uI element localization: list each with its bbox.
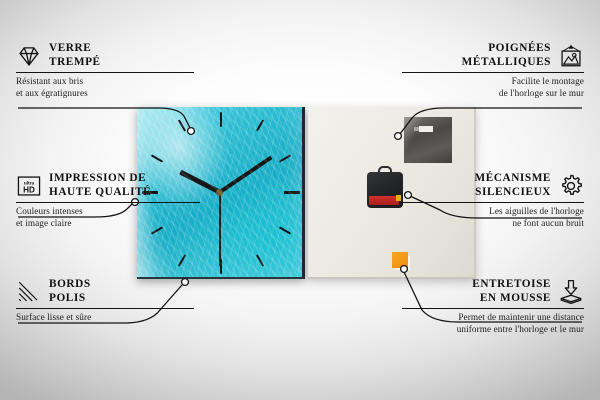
callout-rule	[16, 202, 200, 203]
foam-spacer-part	[392, 252, 408, 268]
clock-hand-cap	[216, 189, 223, 196]
callout-rule	[402, 72, 584, 73]
diamond-icon	[16, 43, 42, 69]
callout-title: ENTRETOISE EN MOUSSE	[472, 278, 551, 305]
callout-rule	[402, 202, 584, 203]
callout-mecanisme-silencieux: MÉCANISME SILENCIEUX Les aiguilles de l'…	[390, 172, 584, 229]
picture-hanger-icon	[558, 43, 584, 69]
callout-bords-polis: BORDS POLIS Surface lisse et sûre	[16, 278, 206, 324]
callout-title: POIGNÉES MÉTALLIQUES	[462, 42, 551, 69]
metal-hanger-plate	[404, 117, 452, 163]
callout-title: BORDS POLIS	[49, 278, 91, 305]
callout-title: IMPRESSION DE HAUTE QUALITÉ	[49, 172, 151, 199]
callout-subtitle: Permet de maintenir une distance uniform…	[390, 312, 584, 335]
callout-poignees-metalliques: POIGNÉES MÉTALLIQUES Facilite le montage…	[390, 42, 584, 99]
clock-minute-hand	[218, 156, 272, 194]
callout-subtitle: Les aiguilles de l'horloge ne font aucun…	[390, 206, 584, 229]
hanger-slot	[419, 126, 433, 132]
svg-text:HD: HD	[23, 185, 35, 194]
callout-verre-trempe: VERRE TREMPÉ Résistant aux bris et aux é…	[16, 42, 206, 99]
callout-subtitle: Résistant aux bris et aux égratignures	[16, 76, 206, 99]
callout-title: MÉCANISME SILENCIEUX	[475, 172, 552, 199]
clock-second-hand	[219, 192, 221, 266]
ultra-hd-icon: ultra HD	[16, 173, 42, 199]
callout-entretoise-en-mousse: ENTRETOISE EN MOUSSE Permet de maintenir…	[390, 278, 584, 335]
callout-impression-haute-qualite: ultra HD IMPRESSION DE HAUTE QUALITÉ Cou…	[16, 172, 212, 229]
gear-icon	[558, 173, 584, 199]
callout-rule	[16, 72, 194, 73]
callout-rule	[402, 308, 584, 309]
callout-rule	[16, 308, 194, 309]
callout-subtitle: Surface lisse et sûre	[16, 312, 206, 323]
foam-spacer-icon	[558, 279, 584, 305]
callout-subtitle: Facilite le montage de l'horloge sur le …	[390, 76, 584, 99]
polished-edge-icon	[16, 279, 42, 305]
infographic-canvas: VERRE TREMPÉ Résistant aux bris et aux é…	[0, 0, 600, 400]
callout-subtitle: Couleurs intenses et image claire	[16, 206, 212, 229]
callout-title: VERRE TREMPÉ	[49, 42, 101, 69]
